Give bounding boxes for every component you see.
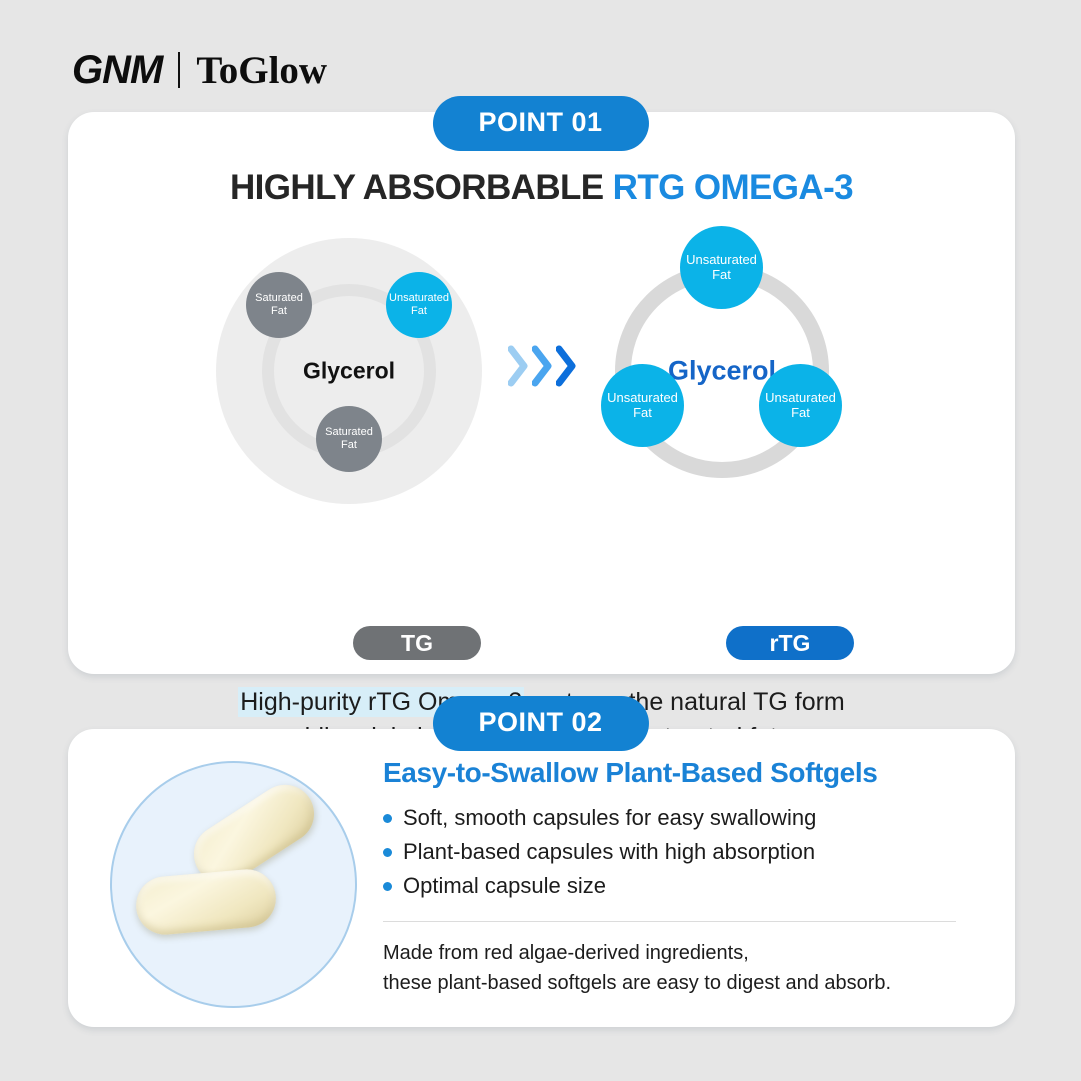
bubble-line-1: Unsaturated (389, 292, 449, 305)
point-02-footnote: Made from red algae-derived ingredients,… (383, 938, 975, 998)
tg-center-label: Glycerol (199, 358, 499, 385)
bubble-line-2: Fat (271, 305, 287, 318)
bubble-line-2: Fat (341, 439, 357, 452)
molecule-comparison-diagram: Glycerol Saturated Fat Unsaturated Fat S… (68, 221, 1015, 521)
point-02-text-block: Easy-to-Swallow Plant-Based Softgels Sof… (357, 757, 975, 1008)
point-01-headline: HIGHLY ABSORBABLE RTG OMEGA-3 (68, 170, 1015, 205)
headline-main-text: HIGHLY ABSORBABLE (230, 168, 604, 207)
brand-name: GNM (72, 50, 162, 90)
list-item: Soft, smooth capsules for easy swallowin… (383, 801, 975, 835)
footnote-line-2: these plant-based softgels are easy to d… (383, 968, 975, 998)
point-01-badge: POINT 01 (432, 96, 648, 151)
point-02-body: Easy-to-Swallow Plant-Based Softgels Sof… (68, 729, 1015, 1008)
rtg-bubble-unsaturated-1: Unsaturated Fat (680, 226, 763, 309)
point-02-badge: POINT 02 (432, 696, 648, 751)
bubble-line-2: Fat (633, 406, 652, 421)
footnote-line-1: Made from red algae-derived ingredients, (383, 938, 975, 968)
point-01-card: HIGHLY ABSORBABLE RTG OMEGA-3 Glycerol S… (68, 112, 1015, 674)
list-item: Plant-based capsules with high absorptio… (383, 835, 975, 869)
brand-divider-icon (178, 52, 180, 88)
softgel-capsules-image (110, 761, 357, 1008)
bubble-line-1: Unsaturated (607, 391, 678, 406)
rtg-molecule-diagram: Glycerol Unsaturated Fat Unsaturated Fat… (572, 221, 872, 521)
bubble-line-2: Fat (411, 305, 427, 318)
tg-bubble-unsaturated-1: Unsaturated Fat (386, 272, 452, 338)
tg-bubble-saturated-1: Saturated Fat (246, 272, 312, 338)
bubble-line-2: Fat (712, 268, 731, 283)
capsule-shape-bottom (134, 867, 279, 937)
rtg-bubble-unsaturated-2: Unsaturated Fat (601, 364, 684, 447)
bubble-line-1: Unsaturated (765, 391, 836, 406)
point-02-benefit-list: Soft, smooth capsules for easy swallowin… (383, 801, 975, 903)
tg-bubble-saturated-2: Saturated Fat (316, 406, 382, 472)
point-02-divider (383, 921, 956, 922)
brand-logo: GNM ToGlow (72, 48, 327, 92)
rtg-label-pill: rTG (726, 626, 854, 660)
list-item: Optimal capsule size (383, 869, 975, 903)
bubble-line-2: Fat (791, 406, 810, 421)
triple-chevron-right-icon (508, 343, 576, 389)
tg-molecule-diagram: Glycerol Saturated Fat Unsaturated Fat S… (199, 221, 499, 521)
bubble-line-1: Saturated (325, 426, 373, 439)
bubble-line-1: Unsaturated (686, 253, 757, 268)
bubble-line-1: Saturated (255, 292, 303, 305)
rtg-bubble-unsaturated-3: Unsaturated Fat (759, 364, 842, 447)
headline-accent-text: RTG OMEGA-3 (613, 168, 853, 207)
point-02-title: Easy-to-Swallow Plant-Based Softgels (383, 757, 975, 789)
point-02-card: Easy-to-Swallow Plant-Based Softgels Sof… (68, 729, 1015, 1027)
brand-product-name: ToGlow (196, 51, 327, 90)
tg-label-pill: TG (353, 626, 481, 660)
